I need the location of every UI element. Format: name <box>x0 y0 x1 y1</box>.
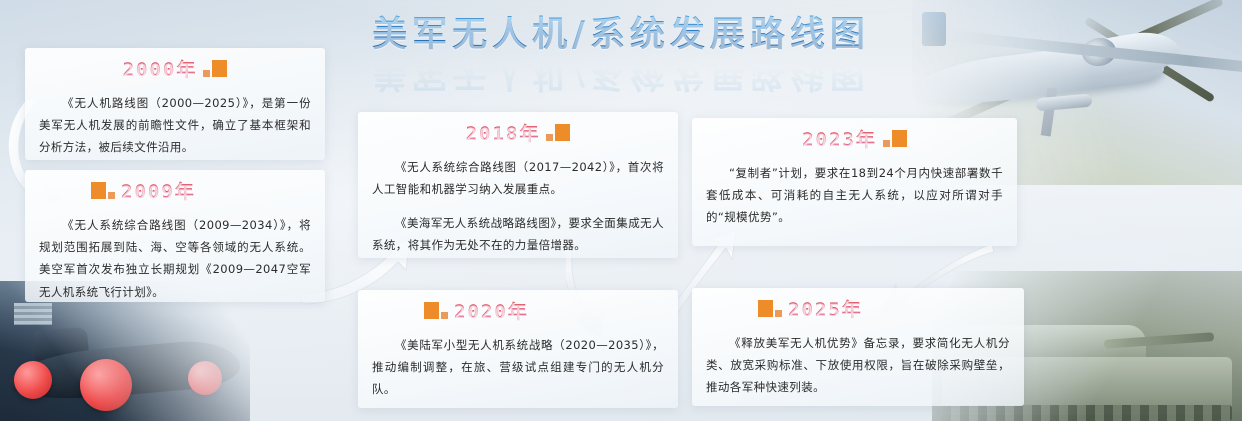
year-label: 2023年 <box>802 125 877 152</box>
year-label: 2009年 <box>121 177 196 204</box>
timeline-card-2009[interactable]: 2009年 《无人系统综合路线图（2009—2034）》，将规划范围拓展到陆、海… <box>25 170 325 302</box>
year-header-2025: 2025年 <box>706 296 1010 320</box>
vessel-sail <box>33 327 89 362</box>
mooring-buoy <box>188 361 222 395</box>
square-marker-icon <box>546 124 570 141</box>
year-header-2020: 2020年 <box>372 298 664 322</box>
year-label: 2018年 <box>466 119 541 146</box>
mooring-buoy <box>14 361 52 399</box>
card-paragraph: 《释放美军无人机优势》备忘录，要求简化无人机分类、放宽采购标准、下放使用权限，旨… <box>706 332 1010 399</box>
card-paragraph: 《无人系统综合路线图（2017—2042）》，首次将人工智能和机器学习纳入发展重… <box>372 156 664 201</box>
timeline-card-2018[interactable]: 2018年 《无人系统综合路线图（2017—2042）》，首次将人工智能和机器学… <box>358 112 678 258</box>
tank-turret-front <box>1014 325 1146 365</box>
year-label: 2025年 <box>788 295 863 322</box>
timeline-card-2023[interactable]: 2023年 “复制者”计划，要求在18到24个月内快速部署数千套低成本、可消耗的… <box>692 118 1017 246</box>
card-paragraph: 《无人系统综合路线图（2009—2034）》，将规划范围拓展到陆、海、空等各领域… <box>39 214 311 304</box>
square-marker-icon <box>883 130 907 147</box>
square-marker-icon <box>91 182 115 199</box>
card-paragraph: 《美海军无人系统战略路线图》，要求全面集成无人系统，将其作为无处不在的力量倍增器… <box>372 212 664 257</box>
year-header-2018: 2018年 <box>372 120 664 144</box>
page-title-reflection: 美军无人机/系统发展路线图 <box>0 51 1242 102</box>
year-label: 2020年 <box>454 297 529 324</box>
page-title-text: 美军无人机/系统发展路线图 <box>372 6 870 57</box>
card-paragraph: “复制者”计划，要求在18到24个月内快速部署数千套低成本、可消耗的自主无人系统… <box>706 162 1003 229</box>
page-title: 美军无人机/系统发展路线图 美军无人机/系统发展路线图 <box>0 6 1242 102</box>
mooring-buoy <box>80 359 132 411</box>
tank-tracks <box>942 405 1232 421</box>
year-header-2009: 2009年 <box>39 178 311 202</box>
infographic-canvas: 美军无人机/系统发展路线图 美军无人机/系统发展路线图 <box>0 0 1242 421</box>
square-marker-icon <box>758 300 782 317</box>
flag-icon <box>14 303 52 325</box>
year-header-2023: 2023年 <box>706 126 1003 150</box>
timeline-card-2020[interactable]: 2020年 《美陆军小型无人机系统战略（2020—2035）》，推动编制调整，在… <box>358 290 678 408</box>
tank-barrel <box>1104 332 1214 349</box>
vessel-hull <box>6 337 241 405</box>
square-marker-icon <box>424 302 448 319</box>
timeline-card-2025[interactable]: 2025年 《释放美军无人机优势》备忘录，要求简化无人机分类、放宽采购标准、下放… <box>692 288 1024 406</box>
card-paragraph: 《美陆军小型无人机系统战略（2020—2035）》，推动编制调整，在旅、营级试点… <box>372 334 664 401</box>
